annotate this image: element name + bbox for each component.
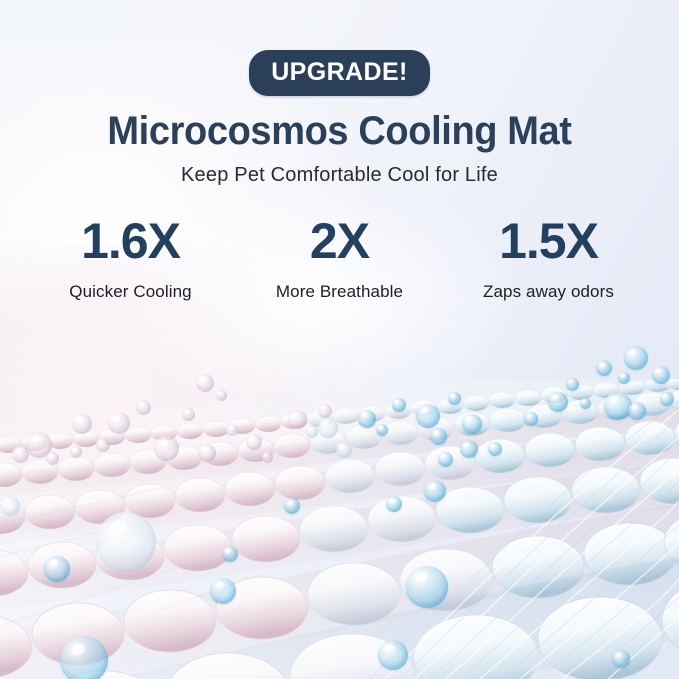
stats-row: 1.6X Quicker Cooling 2X More Breathable … <box>26 216 653 302</box>
product-subtitle: Keep Pet Comfortable Cool for Life <box>0 164 679 187</box>
product-infographic: UPGRADE! Microcosmos Cooling Mat Keep Pe… <box>0 0 679 679</box>
upgrade-badge: UPGRADE! <box>249 50 430 96</box>
stat-label: Zaps away odors <box>444 282 653 302</box>
stat-item: 1.6X Quicker Cooling <box>26 216 235 302</box>
mat-svg <box>0 379 679 679</box>
stat-value: 1.6X <box>26 216 235 266</box>
stat-label: Quicker Cooling <box>26 282 235 302</box>
stat-item: 2X More Breathable <box>235 216 444 302</box>
stat-item: 1.5X Zaps away odors <box>444 216 653 302</box>
cooling-mat-illustration <box>0 379 679 679</box>
stat-value: 1.5X <box>444 216 653 266</box>
header-block: UPGRADE! Microcosmos Cooling Mat Keep Pe… <box>0 0 679 187</box>
badge-wrap: UPGRADE! <box>0 50 679 96</box>
product-title: Microcosmos Cooling Mat <box>17 110 662 152</box>
stat-label: More Breathable <box>235 282 444 302</box>
stat-value: 2X <box>235 216 444 266</box>
